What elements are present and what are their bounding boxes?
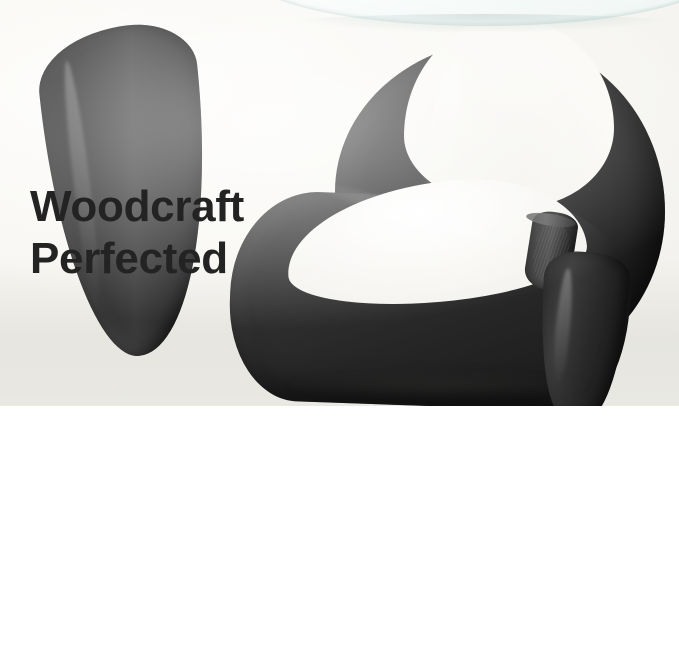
product-marketing-image: Woodcraft Perfected Moisture-proof and a… bbox=[0, 0, 679, 671]
headline: Woodcraft Perfected bbox=[30, 181, 244, 285]
glass-underside-reflection bbox=[258, 14, 679, 40]
glass-tabletop bbox=[248, 0, 679, 40]
hero-section: Woodcraft Perfected bbox=[0, 0, 679, 406]
features-section: Moisture-proof and anti-corrosion enviro… bbox=[0, 406, 679, 671]
floor-shadow bbox=[228, 372, 648, 398]
